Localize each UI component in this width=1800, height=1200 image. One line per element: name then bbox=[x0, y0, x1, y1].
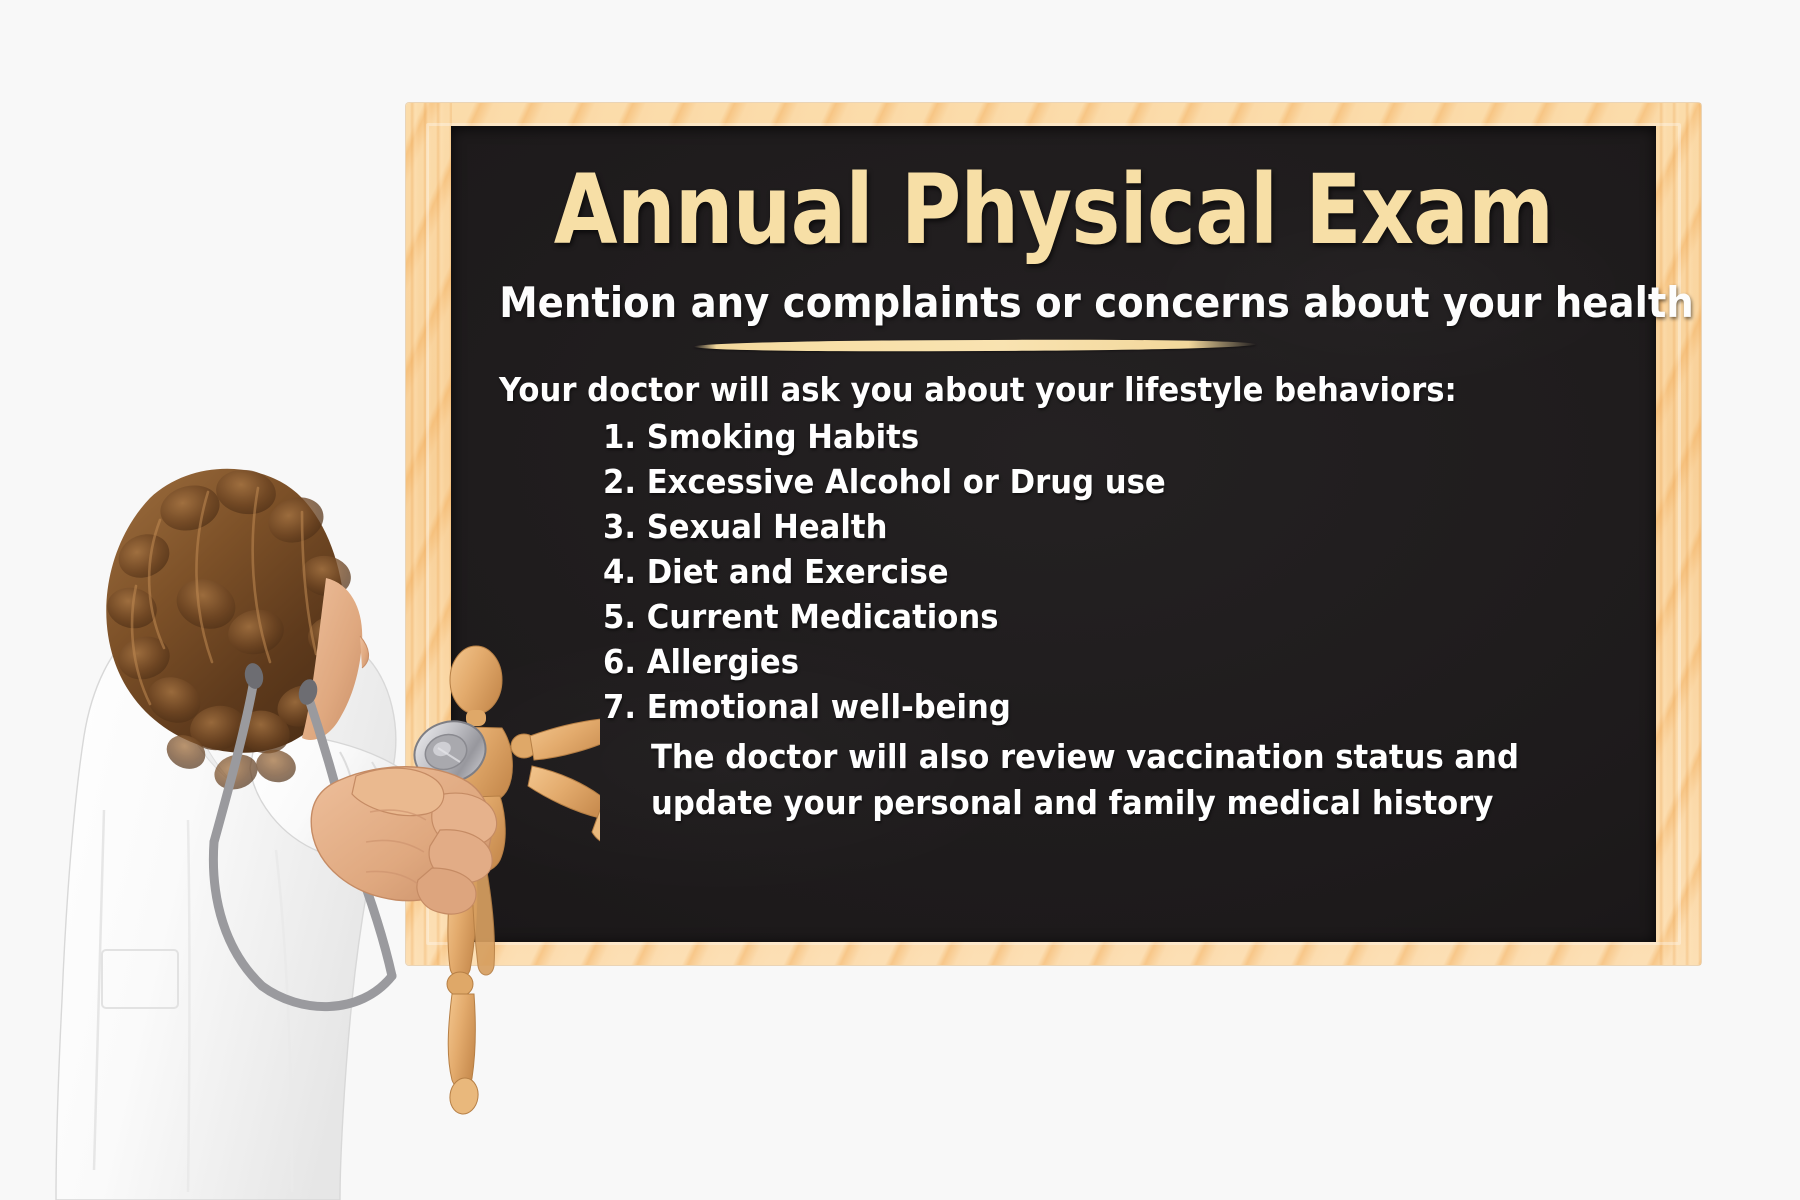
closing-note-line-2: update your personal and family medical … bbox=[651, 780, 1519, 826]
lifestyle-behaviors-list: 1. Smoking Habits 2. Excessive Alcohol o… bbox=[603, 414, 1208, 729]
blackboard-surface: Annual Physical Exam Mention any complai… bbox=[451, 126, 1656, 942]
closing-note-line-1: The doctor will also review vaccination … bbox=[651, 734, 1519, 780]
board-subtitle: Mention any complaints or concerns about… bbox=[499, 278, 1608, 327]
list-item: 5. Current Medications bbox=[603, 594, 1166, 639]
list-item: 6. Allergies bbox=[603, 639, 1166, 684]
closing-note: The doctor will also review vaccination … bbox=[651, 734, 1519, 826]
list-item: 1. Smoking Habits bbox=[603, 414, 1166, 459]
blackboard-frame: Annual Physical Exam Mention any complai… bbox=[406, 103, 1701, 965]
list-item: 3. Sexual Health bbox=[603, 504, 1166, 549]
page-title: Annual Physical Exam bbox=[535, 154, 1571, 266]
subtitle-underline-stroke bbox=[694, 339, 1256, 352]
scene: Annual Physical Exam Mention any complai… bbox=[0, 0, 1800, 1200]
list-item: 7. Emotional well-being bbox=[603, 684, 1166, 729]
list-item: 4. Diet and Exercise bbox=[603, 549, 1166, 594]
frame-grain-right bbox=[1655, 103, 1701, 965]
lead-in-text: Your doctor will ask you about your life… bbox=[499, 370, 1457, 409]
doctor-figure bbox=[40, 380, 600, 1200]
list-item: 2. Excessive Alcohol or Drug use bbox=[603, 459, 1166, 504]
